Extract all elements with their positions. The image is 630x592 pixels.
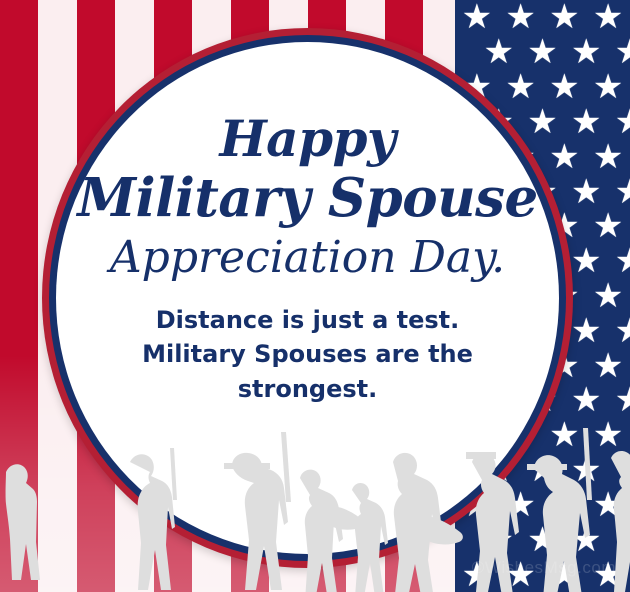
star-icon: ★ (593, 0, 623, 34)
star-icon: ★ (527, 453, 557, 487)
star-icon: ★ (505, 0, 535, 34)
star-icon: ★ (571, 35, 601, 69)
star-icon: ★ (615, 175, 630, 209)
greeting-line-appreciation-day: Appreciation Day. (56, 234, 559, 282)
greeting-line-military-spouse: Military Spouse (56, 170, 559, 226)
greeting-line-happy: Happy (56, 114, 559, 164)
star-icon: ★ (462, 558, 492, 592)
star-icon: ★ (549, 0, 579, 34)
star-icon: ★ (593, 349, 623, 383)
star-icon: ★ (593, 209, 623, 243)
star-icon: ★ (549, 488, 579, 522)
star-icon: ★ (484, 523, 514, 557)
star-icon: ★ (462, 0, 492, 34)
star-icon: ★ (615, 453, 630, 487)
star-icon: ★ (615, 105, 630, 139)
greeting-text-block: Happy Military Spouse Appreciation Day. … (56, 42, 559, 407)
star-icon: ★ (571, 244, 601, 278)
star-icon: ★ (615, 35, 630, 69)
star-icon: ★ (571, 453, 601, 487)
star-icon: ★ (593, 418, 623, 452)
star-icon: ★ (527, 523, 557, 557)
star-icon: ★ (571, 314, 601, 348)
star-icon: ★ (615, 314, 630, 348)
greeting-card: ★★★★★★★★★★★★★★★★★★★★★★★★★★★★★★★★★★★★★★★★… (0, 0, 630, 592)
star-icon: ★ (549, 558, 579, 592)
medallion-face: Happy Military Spouse Appreciation Day. … (56, 42, 559, 554)
star-icon: ★ (571, 175, 601, 209)
star-icon: ★ (615, 523, 630, 557)
star-icon: ★ (571, 523, 601, 557)
star-icon: ★ (593, 140, 623, 174)
star-icon: ★ (615, 383, 630, 417)
star-icon: ★ (571, 383, 601, 417)
star-icon: ★ (593, 279, 623, 313)
star-icon: ★ (615, 244, 630, 278)
medallion-red-ring: Happy Military Spouse Appreciation Day. … (42, 28, 573, 568)
medallion-navy-ring: Happy Military Spouse Appreciation Day. … (49, 35, 566, 561)
star-icon: ★ (593, 488, 623, 522)
star-icon: ★ (593, 558, 623, 592)
greeting-body-message: Distance is just a test. Military Spouse… (56, 303, 559, 407)
star-icon: ★ (505, 488, 535, 522)
star-icon: ★ (593, 70, 623, 104)
star-icon: ★ (505, 558, 535, 592)
star-icon: ★ (571, 105, 601, 139)
star-icon: ★ (549, 418, 579, 452)
